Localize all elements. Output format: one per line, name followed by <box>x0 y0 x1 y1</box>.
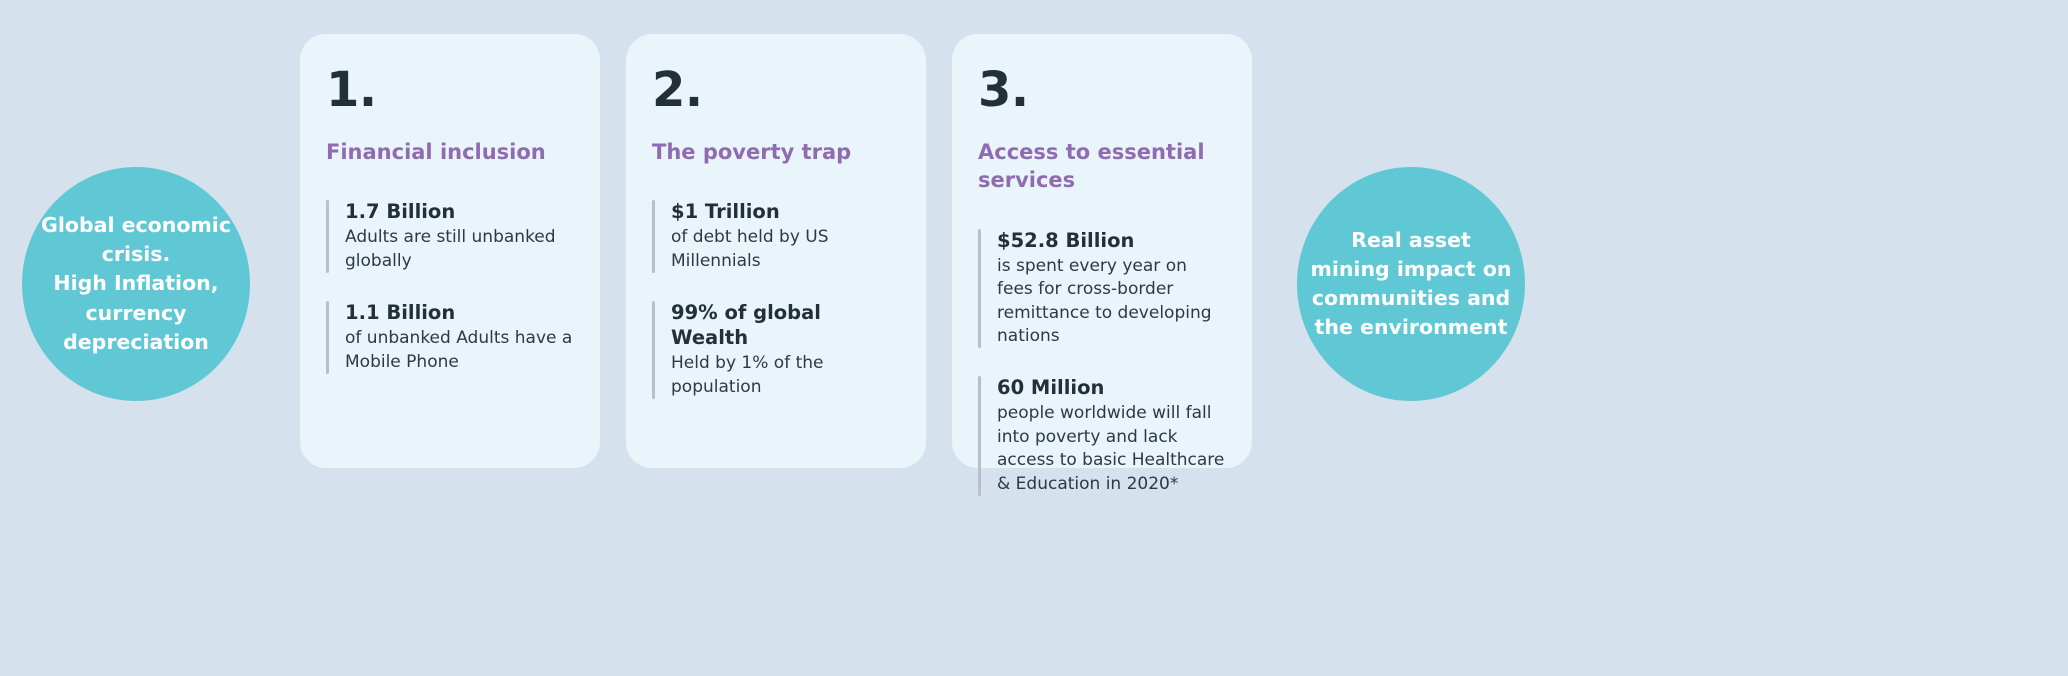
stat-item: 99% of global Wealth Held by 1% of the p… <box>652 301 900 399</box>
stat-item: 1.7 Billion Adults are still unbanked gl… <box>326 200 574 273</box>
stat-value: 1.1 Billion <box>345 301 574 326</box>
cards-row: 1. Financial inclusion 1.7 Billion Adult… <box>300 34 1252 468</box>
stat-description: people worldwide will fall into poverty … <box>997 402 1226 496</box>
stat-description: Adults are still unbanked globally <box>345 226 574 273</box>
accent-bar <box>652 301 655 399</box>
right-circle-label: Real asset mining impact on communities … <box>1309 226 1514 342</box>
stat-description: of debt held by US Millennials <box>671 226 900 273</box>
card-title: The poverty trap <box>652 138 900 166</box>
stat-body: $52.8 Billion is spent every year on fee… <box>997 229 1226 349</box>
right-context-circle: Real asset mining impact on communities … <box>1297 167 1525 401</box>
stat-description: Held by 1% of the population <box>671 352 900 399</box>
card-access-essential-services: 3. Access to essential services $52.8 Bi… <box>952 34 1252 468</box>
stat-value: $52.8 Billion <box>997 229 1226 254</box>
stat-item: $52.8 Billion is spent every year on fee… <box>978 229 1226 349</box>
accent-bar <box>326 200 329 273</box>
stat-description: is spent every year on fees for cross-bo… <box>997 255 1226 349</box>
accent-bar <box>978 376 981 496</box>
stat-item: 1.1 Billion of unbanked Adults have a Mo… <box>326 301 574 374</box>
stat-body: 60 Million people worldwide will fall in… <box>997 376 1226 496</box>
infographic-canvas: Global economic crisis. High Inflation, … <box>0 0 2068 676</box>
stat-value: $1 Trillion <box>671 200 900 225</box>
accent-bar <box>652 200 655 273</box>
stat-list: $52.8 Billion is spent every year on fee… <box>978 229 1226 497</box>
card-number: 3. <box>978 66 1226 114</box>
card-number: 1. <box>326 66 574 114</box>
stat-body: 1.1 Billion of unbanked Adults have a Mo… <box>345 301 574 374</box>
card-title: Access to essential services <box>978 138 1226 195</box>
stat-value: 99% of global Wealth <box>671 301 900 351</box>
accent-bar <box>978 229 981 349</box>
card-number: 2. <box>652 66 900 114</box>
stat-item: $1 Trillion of debt held by US Millennia… <box>652 200 900 273</box>
stat-description: of unbanked Adults have a Mobile Phone <box>345 327 574 374</box>
stat-value: 1.7 Billion <box>345 200 574 225</box>
accent-bar <box>326 301 329 374</box>
card-poverty-trap: 2. The poverty trap $1 Trillion of debt … <box>626 34 926 468</box>
stat-value: 60 Million <box>997 376 1226 401</box>
stat-body: 99% of global Wealth Held by 1% of the p… <box>671 301 900 399</box>
left-circle-label: Global economic crisis. High Inflation, … <box>41 211 231 357</box>
left-context-circle: Global economic crisis. High Inflation, … <box>22 167 250 401</box>
stat-list: $1 Trillion of debt held by US Millennia… <box>652 200 900 399</box>
card-title: Financial inclusion <box>326 138 574 166</box>
stat-body: 1.7 Billion Adults are still unbanked gl… <box>345 200 574 273</box>
stat-body: $1 Trillion of debt held by US Millennia… <box>671 200 900 273</box>
stat-item: 60 Million people worldwide will fall in… <box>978 376 1226 496</box>
card-financial-inclusion: 1. Financial inclusion 1.7 Billion Adult… <box>300 34 600 468</box>
stat-list: 1.7 Billion Adults are still unbanked gl… <box>326 200 574 374</box>
